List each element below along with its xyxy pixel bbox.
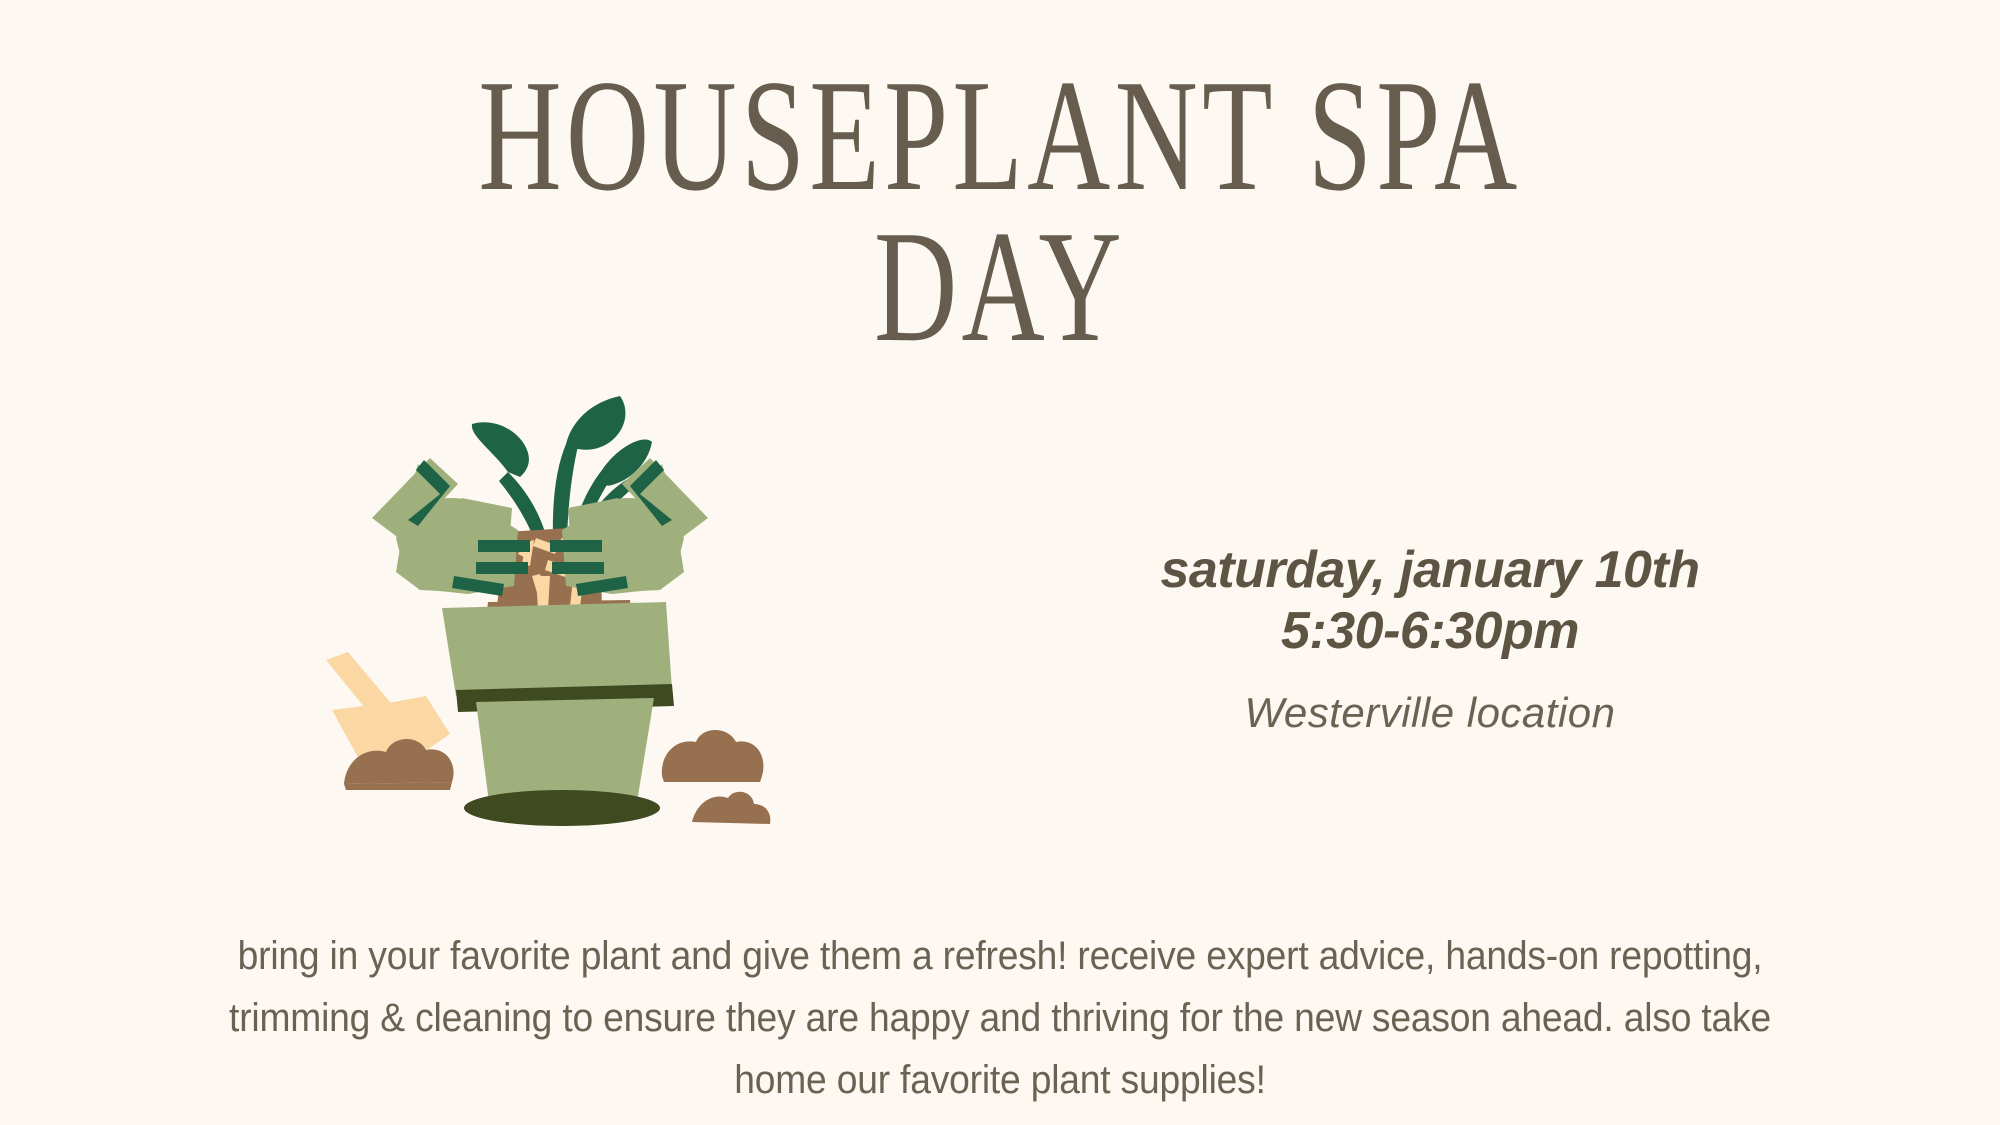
event-description: bring in your favorite plant and give th… (182, 925, 1819, 1111)
event-time: 5:30-6:30pm (1000, 601, 1860, 662)
event-location: Westerville location (1000, 689, 1860, 737)
repotting-houseplant-illustration (300, 380, 780, 830)
title-line-2: DAY (280, 213, 1720, 360)
soil-mound-right-small-icon (692, 792, 770, 824)
right-glove-icon (550, 458, 708, 596)
poster-canvas: HOUSEPLANT SPA DAY (0, 0, 2000, 1125)
soil-mound-right-large-icon (662, 730, 764, 782)
pot-shadow (464, 790, 660, 826)
plant-pot-icon (442, 602, 674, 826)
event-details: saturday, january 10th 5:30-6:30pm Weste… (1000, 540, 1860, 737)
event-date: saturday, january 10th (1000, 540, 1860, 601)
page-title: HOUSEPLANT SPA DAY (0, 62, 2000, 360)
title-line-1: HOUSEPLANT SPA (280, 62, 1720, 209)
